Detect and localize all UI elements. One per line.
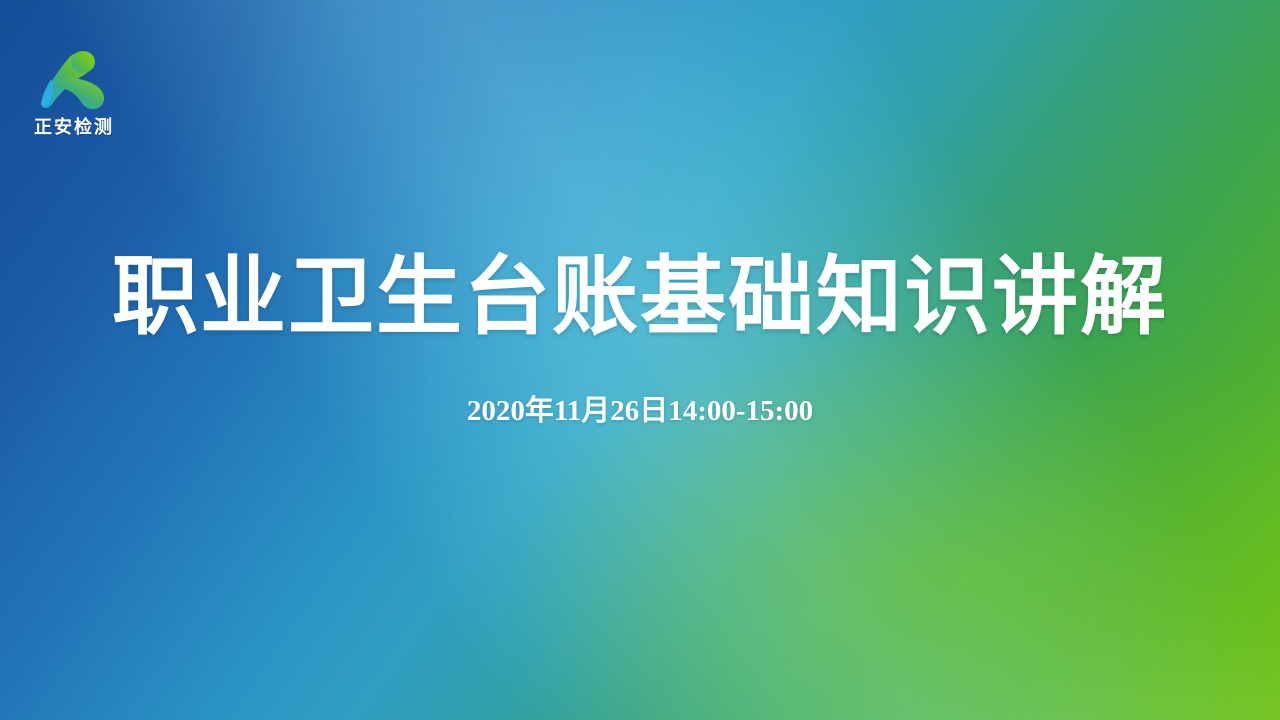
title-text-block: 职业卫生台账基础知识讲解 2020年11月26日14:00-15:00 xyxy=(0,0,1280,720)
slide-title: 职业卫生台账基础知识讲解 xyxy=(112,252,1168,342)
slide-subtitle-datetime: 2020年11月26日14:00-15:00 xyxy=(467,394,813,429)
presentation-title-slide: 正安检测 职业卫生台账基础知识讲解 2020年11月26日14:00-15:00 xyxy=(0,0,1280,720)
